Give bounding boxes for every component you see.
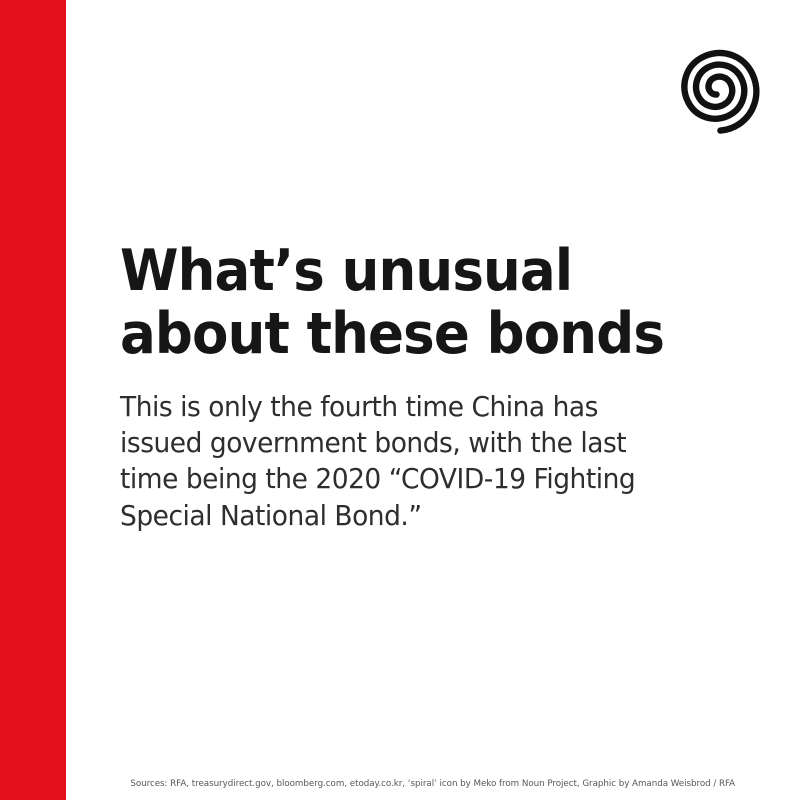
red-accent-stripe <box>0 0 66 800</box>
text-block: What’s unusual about these bonds This is… <box>120 240 720 534</box>
infographic-card: What’s unusual about these bonds This is… <box>0 0 800 800</box>
subheading-text: This is only the fourth time China has i… <box>120 367 687 535</box>
page-title: What’s unusual about these bonds <box>120 240 678 367</box>
footer: Sources: RFA, treasurydirect.gov, bloomb… <box>66 773 800 793</box>
sources-credits: Sources: RFA, treasurydirect.gov, bloomb… <box>131 777 736 791</box>
spiral-icon <box>668 30 778 140</box>
spiral-logo <box>668 30 778 140</box>
